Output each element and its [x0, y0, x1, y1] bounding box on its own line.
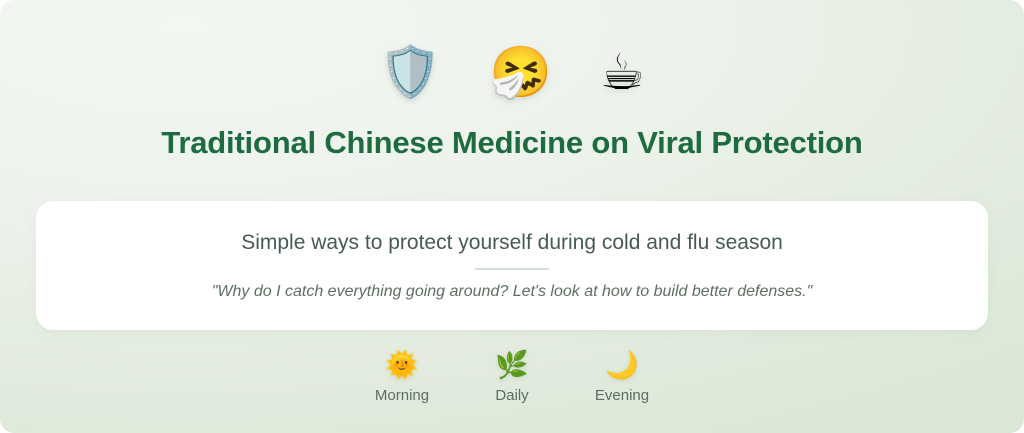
schedule-label-evening: Evening — [595, 387, 649, 404]
card-divider — [475, 268, 549, 270]
teacup-icon: ☕ — [600, 47, 645, 97]
schedule-item-morning: 🌞 Morning — [371, 352, 433, 404]
page-title: Traditional Chinese Medicine on Viral Pr… — [161, 125, 862, 161]
herb-icon: 🌿 — [495, 352, 529, 379]
hero-icon-row: 🛡️ 🤧 ☕ — [379, 37, 644, 107]
info-card: Simple ways to protect yourself during c… — [36, 201, 988, 330]
schedule-label-morning: Morning — [375, 387, 429, 404]
shield-icon: 🛡️ — [379, 47, 441, 97]
schedule-row: 🌞 Morning 🌿 Daily 🌙 Evening — [371, 352, 653, 404]
crescent-moon-icon: 🌙 — [605, 352, 639, 379]
card-subtitle: Simple ways to protect yourself during c… — [241, 230, 783, 255]
sneezing-face-icon: 🤧 — [490, 47, 552, 97]
schedule-label-daily: Daily — [495, 387, 528, 404]
schedule-item-daily: 🌿 Daily — [481, 352, 543, 404]
sun-icon: 🌞 — [385, 352, 419, 379]
schedule-item-evening: 🌙 Evening — [591, 352, 653, 404]
tcm-viral-protection-banner: 🛡️ 🤧 ☕ Traditional Chinese Medicine on V… — [0, 0, 1024, 433]
card-quote: "Why do I catch everything going around?… — [212, 282, 813, 301]
